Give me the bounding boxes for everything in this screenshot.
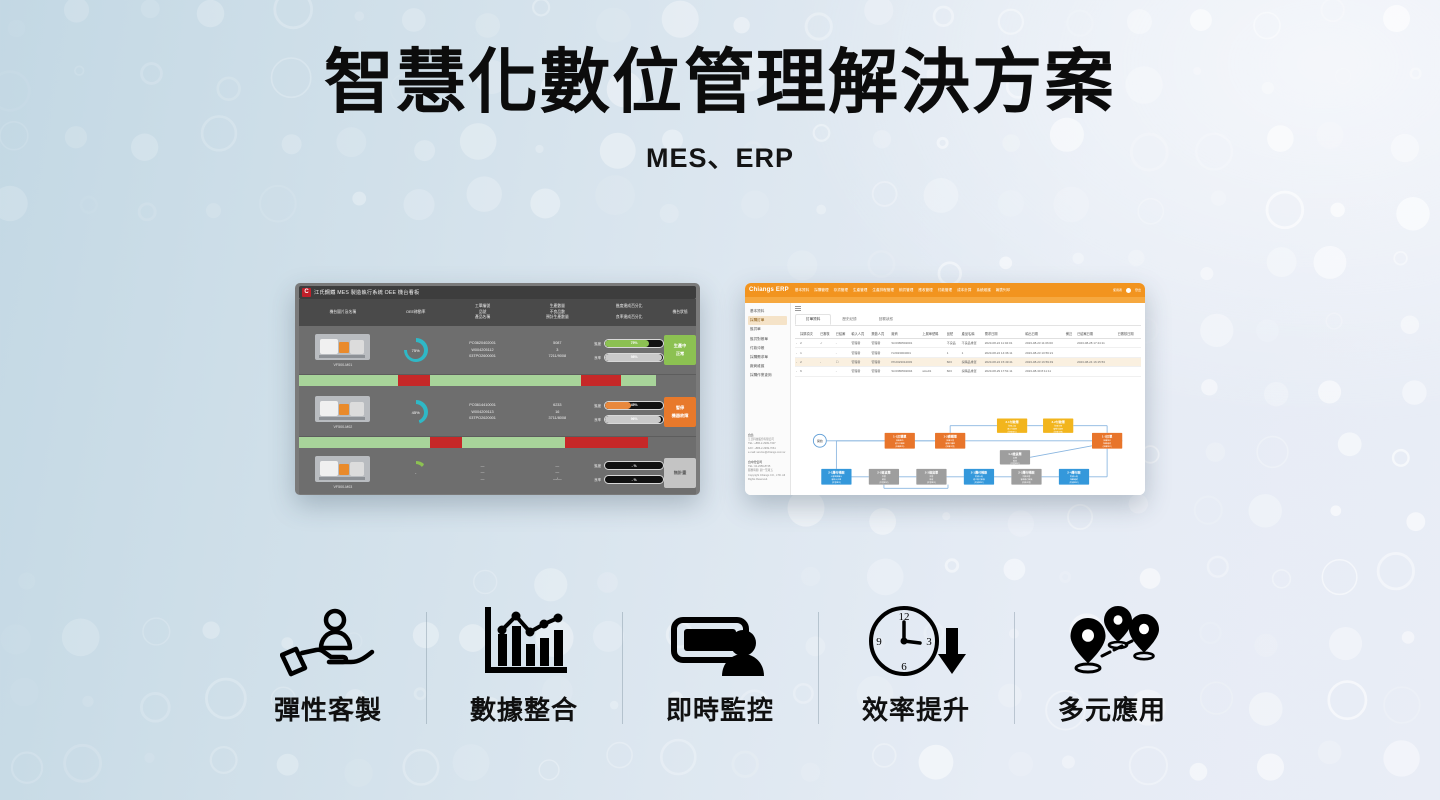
erp-cell-4: 管理者: [850, 348, 870, 357]
produced-qty: 6233: [520, 402, 594, 409]
mes-column-header-line: 良率達成百分比: [594, 315, 664, 321]
erp-cell-10: 2023-08-29 17:51:11: [984, 367, 1025, 376]
mes-machine-row[interactable]: VF500-M03 - — — — — — —/—: [299, 450, 696, 495]
erp-cell-11: 2023-08-23 16:59:49: [1024, 357, 1065, 366]
page-title: 智慧化數位管理解決方案: [0, 46, 1440, 120]
clock-label-9: 9: [876, 636, 882, 648]
erp-cell-6: SC0380502004: [890, 367, 921, 376]
erp-cell-13: [1076, 348, 1117, 357]
erp-menu-bar[interactable]: 基本資料採購管理存貨管理生產管理生產排程管理銷貨管理應收管理付款管理成本計算系統…: [795, 288, 1010, 293]
status-badge[interactable]: 生產中 正常: [664, 335, 696, 365]
erp-cell-13: 2023-08-28 17:44:11: [1076, 339, 1117, 348]
erp-menu-item-3[interactable]: 生產管理: [853, 288, 867, 293]
menu-icon[interactable]: [795, 306, 801, 311]
erp-nav-item-4[interactable]: 付款沖帳: [748, 344, 787, 353]
status-secondary: 機器故障: [672, 412, 689, 420]
erp-th-9[interactable]: 產品名稱: [961, 329, 984, 339]
erp-menu-item-7[interactable]: 付款管理: [938, 288, 952, 293]
erp-table-row[interactable]: -2✓-管理者管理者SC0380502001不良品不良品重置2023-08-24…: [795, 339, 1141, 348]
erp-table-row[interactable]: -2-☐管理者管理者PK2023014003603採購品重置2023-08-24…: [795, 357, 1141, 366]
mes-column-header-line: OEE稼動率: [387, 310, 445, 316]
work-order-no: PO3620402001: [445, 340, 521, 347]
yield-bar-track: - %: [604, 475, 664, 484]
erp-logout-label[interactable]: 登出: [1135, 288, 1141, 292]
feature-item-3: 12 3 6 9 效率提升: [818, 604, 1014, 727]
planned-qty: 3711/8008: [520, 415, 594, 422]
erp-cell-1: 1: [799, 348, 819, 357]
erp-th-3[interactable]: 已結案: [835, 329, 851, 339]
erp-nav-item-1[interactable]: 採購訂單: [748, 316, 787, 325]
timeline-segment: [621, 375, 657, 386]
erp-th-11[interactable]: 輸出日期: [1024, 329, 1065, 339]
erp-menu-item-2[interactable]: 存貨管理: [834, 288, 848, 293]
timeline-segment: [430, 375, 581, 386]
erp-cell-10: 2023-08-24 11:04:01: [984, 339, 1025, 348]
machine-photo: [315, 334, 370, 360]
part-no: —: [445, 469, 521, 476]
erp-sidebar[interactable]: 基本資料採購訂單進貨單進貨對帳單付款沖帳採購需求單廠商維護採購作業查詢 台北江氏…: [745, 303, 791, 495]
status-primary: 生產中: [674, 342, 687, 350]
product-name: 03TPO2620001: [445, 415, 521, 422]
erp-cell-4: 管理者: [850, 367, 870, 376]
mes-logo-icon: C: [302, 288, 311, 297]
flow-node-n11[interactable]: 2-2應付帳款財務主管審核應付帳款(財務主管): [1011, 469, 1041, 485]
yield-bar-value: 98%: [605, 354, 663, 361]
erp-th-12[interactable]: 備註: [1065, 329, 1076, 339]
erp-contact-title: 台北: [748, 433, 754, 437]
flow-node-n3[interactable]: 3-1付款單財務人員建立付款單(財務單位): [997, 418, 1027, 433]
erp-nav-item-2[interactable]: 進貨單: [748, 325, 787, 334]
erp-cell-9: 不良品重置: [961, 339, 984, 348]
erp-cell-9: 採購品重置: [961, 357, 984, 366]
mes-oee-cell: 75%: [387, 338, 445, 362]
flow-node-label: 2-1應付帳款: [971, 470, 988, 475]
progress-bar-track: 75%: [604, 339, 664, 348]
mes-machine-row[interactable]: VF500-M02 45% PO3614410001 W004209113 03…: [299, 388, 696, 437]
erp-tab-0[interactable]: 訂單資料: [795, 314, 831, 325]
erp-th-8[interactable]: 品號: [946, 329, 961, 339]
erp-cell-12: [1065, 348, 1076, 357]
timeline-segment: [648, 437, 696, 448]
flow-node-n6[interactable]: 1-4進貨單倉管驗收(倉管單位): [1000, 450, 1030, 465]
erp-nav-item-5[interactable]: 採購需求單: [748, 353, 787, 362]
yield-bar-label: 良率: [594, 477, 602, 482]
machine-photo: [315, 456, 370, 482]
flow-node-n2[interactable]: 1-2請購單採購主管審核訂購單(採購主管): [935, 433, 965, 449]
erp-cell-2: -: [819, 357, 835, 366]
yield-bar-value: 96%: [605, 416, 663, 423]
erp-user-area[interactable]: 使用者 登出: [1113, 288, 1145, 293]
feature-label-3: 效率提升: [862, 690, 970, 727]
timeline-segment: [299, 437, 430, 448]
erp-cell-2: [819, 367, 835, 376]
feature-label-0: 彈性客製: [274, 690, 382, 727]
machine-photo: [315, 396, 370, 422]
erp-tab-1[interactable]: 歷史紀錄: [831, 314, 867, 325]
mes-status-cell: 暫停 機器故障: [664, 397, 696, 427]
status-primary: 無計畫: [674, 469, 687, 477]
flow-node-n7[interactable]: 2-1應付帳款上層單據轉入審核入庫單(倉管單位): [821, 469, 851, 485]
erp-cell-12: [1065, 339, 1076, 348]
erp-cell-5: 管理者: [870, 348, 890, 357]
flow-node-n5[interactable]: 1-3訂單採購單位結案確認(採購單位): [1092, 433, 1122, 449]
progress-bar-row: 進度 - %: [594, 461, 664, 470]
mes-status-cell: 生產中 正常: [664, 335, 696, 365]
erp-user-label: 使用者: [1113, 288, 1122, 292]
erp-tab-2[interactable]: 回覆狀態: [868, 314, 904, 325]
mes-column-header-line: 機台狀態: [664, 310, 696, 316]
erp-cell-4: 管理者: [850, 339, 870, 348]
flow-node-label: 2-4應付款: [1067, 470, 1081, 475]
mes-column-header-line: 機台圖片及名稱: [299, 310, 387, 316]
monitor-person-icon: [670, 604, 770, 678]
mes-window-title: 江氏鋼鐵 MES 製造執行系統 OEE 機台看板: [314, 289, 419, 296]
yield-bar-track: 96%: [604, 415, 664, 424]
timeline-segment: [581, 375, 621, 386]
part-no: W004205112: [445, 347, 521, 354]
clock-label-3: 3: [926, 636, 932, 648]
oee-gauge: 45%: [404, 400, 428, 424]
product-showcase: C 江氏鋼鐵 MES 製造執行系統 OEE 機台看板 機台圖片及名稱OEE稼動率…: [0, 283, 1440, 553]
feature-item-4: 多元應用: [1014, 604, 1210, 727]
mes-progress-cell: 進度 45% 良率 96%: [594, 401, 664, 424]
mes-dashboard-window[interactable]: C 江氏鋼鐵 MES 製造執行系統 OEE 機台看板 機台圖片及名稱OEE稼動率…: [295, 283, 700, 495]
erp-order-table[interactable]: 採購項次已審核已結案輸入人員異動人員廠商上層單號碼品號產品名稱需求日期輸出日期備…: [795, 329, 1141, 377]
flow-node-n12[interactable]: 2-4應付款財務人員結案確認(財務單位): [1059, 469, 1089, 485]
flow-node-label: 2-2應付帳款: [1018, 470, 1035, 475]
erp-cell-5: 管理者: [870, 367, 890, 376]
erp-cell-13: [1076, 367, 1117, 376]
mes-column-header-4: 進度達成百分比 良率達成百分比: [594, 304, 664, 322]
yield-bar-track: 98%: [604, 353, 664, 362]
machine-id-label: VF500-M02: [333, 425, 352, 429]
mes-order-cell: — — —: [445, 463, 521, 483]
erp-menu-item-10[interactable]: 報表列印: [996, 288, 1010, 293]
flow-node-label: 2-2進貨單: [877, 470, 890, 475]
progress-bar-row: 進度 45%: [594, 401, 664, 410]
erp-cell-7: wire01: [921, 367, 945, 376]
clock-label-6: 6: [901, 661, 907, 673]
planned-qty: —/—: [520, 476, 594, 483]
flow-node-label: 2-3進貨單: [925, 470, 938, 475]
mes-table-rows: VF500-M01 75% PO3620402001 W004205112 03…: [299, 326, 696, 495]
progress-bar-row: 進度 75%: [594, 339, 664, 348]
feature-label-2: 即時監控: [666, 690, 774, 727]
yield-bar-value: - %: [605, 476, 663, 483]
erp-cell-1: 2: [799, 357, 819, 366]
yield-bar-label: 良率: [594, 417, 602, 422]
mes-column-header-line: 產品名稱: [445, 315, 521, 321]
erp-th-6[interactable]: 廠商: [890, 329, 921, 339]
yield-bar-label: 良率: [594, 355, 602, 360]
erp-cell-12: [1065, 357, 1076, 366]
progress-bar-label: 進度: [594, 403, 602, 408]
produced-qty: 5087: [520, 340, 594, 347]
timeline-segment: [430, 437, 462, 448]
flow-node-label: 3-1付款單: [1005, 419, 1018, 424]
erp-cell-7: [921, 357, 945, 366]
feature-label-1: 數據整合: [470, 690, 578, 727]
defect-qty: —: [520, 469, 594, 476]
mes-oee-cell: -: [387, 461, 445, 485]
mes-column-header-line: 預計生產數量: [520, 315, 594, 321]
mes-column-header-0: 機台圖片及名稱: [299, 310, 387, 316]
erp-cell-2: [819, 348, 835, 357]
mes-body: 機台圖片及名稱OEE稼動率工單編號品號產品名稱生產數量不良品數預計生產數量進度達…: [299, 299, 696, 494]
status-secondary: 正常: [676, 350, 684, 358]
erp-brand: Chiangs ERP: [749, 287, 789, 293]
erp-th-2[interactable]: 已審核: [819, 329, 835, 339]
mes-status-cell: 無計畫: [664, 458, 696, 488]
flow-node-label: 3-2付款單: [1051, 419, 1064, 424]
feature-item-2: 即時監控: [622, 604, 818, 727]
mes-qty-cell: 5087 3 7211/9008: [520, 340, 594, 360]
erp-menu-item-1[interactable]: 採購管理: [814, 288, 828, 293]
mes-machine-cell: VF500-M03: [299, 456, 387, 489]
mes-order-cell: PO3614410001 W004209113 03TPO2620001: [445, 402, 521, 422]
erp-cell-6: IV2023004001: [890, 348, 921, 357]
erp-tab-bar[interactable]: 訂單資料歷史紀錄回覆狀態: [795, 314, 1141, 326]
hand-person-icon: [280, 604, 376, 678]
erp-cell-1: 2: [799, 339, 819, 348]
machine-status-timeline: [299, 375, 696, 386]
erp-window[interactable]: Chiangs ERP 基本資料採購管理存貨管理生產管理生產排程管理銷貨管理應收…: [745, 283, 1145, 495]
timeline-segment: [656, 375, 696, 386]
erp-cell-3: -: [835, 367, 851, 376]
work-order-no: —: [445, 463, 521, 470]
timeline-segment: [299, 375, 398, 386]
erp-th-10[interactable]: 需求日期: [984, 329, 1025, 339]
progress-bar-track: 45%: [604, 401, 664, 410]
mes-progress-cell: 進度 - % 良率 - %: [594, 461, 664, 484]
erp-cell-6: SC0380502001: [890, 339, 921, 348]
erp-cell-7: [921, 339, 945, 348]
mes-machine-cell: VF500-M01: [299, 334, 387, 367]
erp-cell-6: PK2023014003: [890, 357, 921, 366]
status-badge[interactable]: 無計畫: [664, 458, 696, 488]
flow-node-label: 1-3訂單: [1102, 434, 1112, 439]
product-name: 03TPO2600001: [445, 353, 521, 360]
erp-content: 訂單資料歷史紀錄回覆狀態 採購項次已審核已結案輸入人員異動人員廠商上層單號碼品號…: [791, 303, 1145, 495]
planned-qty: 7211/9008: [520, 353, 594, 360]
mes-progress-cell: 進度 75% 良率 98%: [594, 339, 664, 362]
defect-qty: 3: [520, 347, 594, 354]
erp-contact-line-3: e-mail: service@chiangs.com.tw: [748, 451, 787, 455]
erp-cell-14: [1117, 348, 1141, 357]
mes-oee-cell: 45%: [387, 400, 445, 424]
flow-start-label: 開始: [817, 438, 823, 443]
erp-cell-7: [921, 348, 945, 357]
erp-cell-14: [1117, 357, 1141, 366]
yield-bar-row: 良率 - %: [594, 475, 664, 484]
erp-nav-item-3[interactable]: 進貨對帳單: [748, 335, 787, 344]
status-primary: 暫停: [676, 404, 684, 412]
erp-nav-item-7[interactable]: 採購作業查詢: [748, 371, 787, 380]
progress-bar-label: 進度: [594, 341, 602, 346]
mes-qty-cell: 6233 16 3711/8008: [520, 402, 594, 422]
erp-menu-item-9[interactable]: 系統維護: [976, 288, 990, 293]
erp-cell-8: 603: [946, 357, 961, 366]
erp-cell-3: -: [835, 348, 851, 357]
erp-cell-5: 管理者: [870, 339, 890, 348]
defect-qty: 16: [520, 409, 594, 416]
erp-th-7[interactable]: 上層單號碼: [921, 329, 945, 339]
erp-table-header-row: 採購項次已審核已結案輸入人員異動人員廠商上層單號碼品號產品名稱需求日期輸出日期備…: [795, 329, 1141, 339]
erp-cell-13: 2023-08-24 16:15:53: [1076, 357, 1117, 366]
yield-bar-row: 良率 96%: [594, 415, 664, 424]
flow-node-n9[interactable]: 2-3進貨單倉管驗收(倉管單位): [916, 469, 946, 485]
produced-qty: —: [520, 463, 594, 470]
flow-node-label: 1-4進貨單: [1008, 451, 1021, 456]
feature-list: 彈性客製 數據整合: [0, 604, 1440, 754]
erp-cell-11: 2023-08-23 10:56:21: [1024, 348, 1065, 357]
timeline-segment: [462, 437, 565, 448]
flow-node-label: 2-1應付帳款: [828, 470, 845, 475]
mes-qty-cell: — — —/—: [520, 463, 594, 483]
mes-order-cell: PO3620402001 W004205112 03TPO2600001: [445, 340, 521, 360]
progress-bar-value: - %: [605, 462, 663, 469]
erp-cell-9: 採購品重置: [961, 367, 984, 376]
oee-gauge: 75%: [404, 338, 428, 362]
flow-node-n10[interactable]: 2-1應付帳款財務人員建立應付帳款(財務單位): [964, 469, 994, 485]
erp-cell-10: 2023-08-24 14:36:11: [984, 348, 1025, 357]
erp-contact-title-2: 台中分公司: [748, 460, 762, 464]
mes-column-header-2: 工單編號品號產品名稱: [445, 304, 521, 322]
progress-bar-value: 75%: [605, 340, 663, 347]
timeline-segment: [565, 437, 648, 448]
erp-cell-8: 不良品: [946, 339, 961, 348]
timeline-segment: [398, 375, 430, 386]
erp-cell-5: 管理者: [870, 357, 890, 366]
work-order-no: PO3614410001: [445, 402, 521, 409]
bar-chart-icon: [478, 604, 570, 678]
feature-item-1: 數據整合: [426, 604, 622, 727]
erp-cell-8: 1: [946, 348, 961, 357]
erp-cell-12: [1065, 367, 1076, 376]
oee-value: 75%: [412, 348, 420, 353]
erp-cell-11: 2023-08-30 8:11:11: [1024, 367, 1065, 376]
progress-bar-value: 45%: [605, 402, 663, 409]
yield-bar-row: 良率 98%: [594, 353, 664, 362]
erp-cell-8: 603: [946, 367, 961, 376]
erp-cell-2: ✓: [819, 339, 835, 348]
erp-menu-item-5[interactable]: 銷貨管理: [899, 288, 913, 293]
mes-column-header-5: 機台狀態: [664, 310, 696, 316]
erp-nav-list[interactable]: 基本資料採購訂單進貨單進貨對帳單付款沖帳採購需求單廠商維護採購作業查詢: [748, 307, 787, 381]
progress-bar-track: - %: [604, 461, 664, 470]
erp-nav-item-6[interactable]: 廠商維護: [748, 362, 787, 371]
page-header: 智慧化數位管理解決方案 MES、ERP: [0, 0, 1440, 175]
oee-gauge: -: [404, 461, 428, 485]
mes-column-header-1: OEE稼動率: [387, 310, 445, 316]
erp-main: 基本資料採購訂單進貨單進貨對帳單付款沖帳採購需求單廠商維護採購作業查詢 台北江氏…: [745, 303, 1145, 495]
flow-node-label: 1-1訂購單: [893, 434, 906, 439]
part-no: W004209113: [445, 409, 521, 416]
erp-topbar: Chiangs ERP 基本資料採購管理存貨管理生產管理生產排程管理銷貨管理應收…: [745, 283, 1145, 297]
oee-value: -: [415, 470, 416, 475]
page-subtitle: MES、ERP: [0, 136, 1440, 175]
mes-machine-cell: VF500-M02: [299, 396, 387, 429]
erp-table-row[interactable]: -1-管理者管理者IV2023004001112023-08-24 14:36:…: [795, 348, 1141, 357]
flow-node-label: 1-2請購單: [943, 434, 956, 439]
product-name: —: [445, 476, 521, 483]
erp-menu-item-4[interactable]: 生產排程管理: [872, 288, 894, 293]
mes-column-header-3: 生產數量不良品數預計生產數量: [520, 304, 594, 322]
erp-cell-14: [1117, 367, 1141, 376]
oee-value: 45%: [412, 410, 420, 415]
erp-cell-3: ☐: [835, 357, 851, 366]
erp-contact-info: 台北江氏科技股份有限公司TEL: +886-2-2999-7307FAX: +8…: [748, 433, 787, 483]
machine-id-label: VF500-M01: [333, 363, 352, 367]
erp-menu-item-0[interactable]: 基本資料: [795, 288, 809, 293]
mes-titlebar: C 江氏鋼鐵 MES 製造執行系統 OEE 機台看板: [299, 286, 696, 299]
erp-table-row[interactable]: -6-管理者管理者SC0380502004wire01603採購品重置2023-…: [795, 367, 1141, 376]
erp-th-13[interactable]: 已結案日期: [1076, 329, 1117, 339]
status-badge[interactable]: 暫停 機器故障: [664, 397, 696, 427]
mes-table-header: 機台圖片及名稱OEE稼動率工單編號品號產品名稱生產數量不良品數預計生產數量進度達…: [299, 299, 696, 326]
flow-node-n1[interactable]: 1-1訂購單採購單位建立訂購單(採購單位): [885, 433, 915, 449]
erp-cell-1: 6: [799, 367, 819, 376]
erp-th-4[interactable]: 輸入人員: [850, 329, 870, 339]
erp-table-body[interactable]: -2✓-管理者管理者SC0380502001不良品不良品重置2023-08-24…: [795, 339, 1141, 377]
erp-cell-9: 1: [961, 348, 984, 357]
flow-node-n8[interactable]: 2-2進貨單倉管驗收(倉管單位): [869, 469, 899, 485]
erp-th-14[interactable]: 已審核日期: [1117, 329, 1141, 339]
erp-contact-line2-2: Copyright Chiangs CO., LTD. All Rights R…: [748, 474, 787, 483]
erp-th-5[interactable]: 異動人員: [870, 329, 890, 339]
map-pins-icon: [1062, 604, 1162, 678]
erp-nav-item-0[interactable]: 基本資料: [748, 307, 787, 316]
feature-label-4: 多元應用: [1058, 690, 1166, 727]
erp-menu-item-6[interactable]: 應收管理: [918, 288, 932, 293]
clock-arrow-icon: 12 3 6 9: [864, 604, 969, 678]
machine-status-timeline: [299, 437, 696, 448]
erp-cell-11: 2023-08-23 11:06:00: [1024, 339, 1065, 348]
mes-machine-row[interactable]: VF500-M01 75% PO3620402001 W004205112 03…: [299, 326, 696, 375]
erp-cell-4: 管理者: [850, 357, 870, 366]
flow-node-n4[interactable]: 3-2付款單財務主管審核付款單(財務主管): [1043, 418, 1073, 433]
erp-avatar-icon: [1126, 288, 1131, 293]
erp-menu-item-8[interactable]: 成本計算: [957, 288, 971, 293]
erp-workflow-diagram: 開始結束1-1訂購單採購單位建立訂購單(採購單位)1-2請購單採購主管審核訂購單…: [801, 417, 1131, 489]
feature-item-0: 彈性客製: [230, 604, 426, 727]
erp-th-1[interactable]: 採購項次: [799, 329, 819, 339]
erp-cell-10: 2023-08-24 15:49:41: [984, 357, 1025, 366]
erp-cell-14: [1117, 339, 1141, 348]
machine-id-label: VF500-M03: [333, 485, 352, 489]
erp-cell-3: -: [835, 339, 851, 348]
progress-bar-label: 進度: [594, 463, 602, 468]
